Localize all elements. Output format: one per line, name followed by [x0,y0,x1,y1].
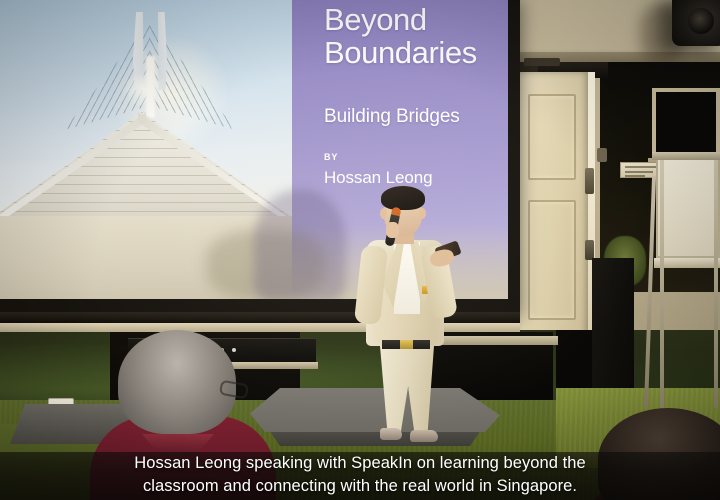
door-panel-middle [528,200,576,320]
audience-left-head [118,330,236,434]
presenter-shoe-right [410,430,438,442]
flipchart-leg-left [660,160,664,408]
lens-flare [122,72,168,106]
window-frame [652,88,720,160]
flipchart-leg-right [714,160,718,408]
sign-line [625,171,653,173]
caption-line-2: classroom and connecting with the real w… [143,476,577,498]
caption-bar: Hossan Leong speaking with SpeakIn on le… [0,452,720,500]
caption-line-1: Hossan Leong speaking with SpeakIn on le… [134,453,585,475]
presenter-hand-left [386,222,399,238]
presenter [352,188,464,444]
slide-subtitle: Building Bridges [324,106,494,128]
door-hinge [597,148,607,162]
slide-title-line-1: Beyond [324,4,494,37]
sign-line [625,175,645,177]
presenter-belt-buckle [400,340,413,349]
slide-byline-label: BY [324,152,494,162]
slide-title-line-2: Boundaries [324,37,494,70]
presenter-trousers [380,346,434,434]
slide-title: Beyond Boundaries [324,4,494,70]
door-panel-top [528,94,576,180]
presenter-ear-left [380,208,387,219]
presenter-shoe-left [380,428,402,440]
av-speaker [672,0,720,46]
door-lock [585,240,594,260]
sign-line [625,166,657,168]
door-closer [524,58,560,66]
flipchart-clamp [652,152,720,160]
presenter-cast-shadow [254,190,346,299]
presenter-ear-right [419,208,426,219]
dark-pillar [592,258,634,403]
door-handle [585,168,594,194]
event-photograph: Beyond Boundaries Building Bridges BY Ho… [0,0,720,500]
bridge-deck-planks [0,112,292,222]
slide-presenter-name: Hossan Leong [324,168,494,188]
flipchart-paper [656,158,720,258]
presenter-hair [381,186,425,210]
